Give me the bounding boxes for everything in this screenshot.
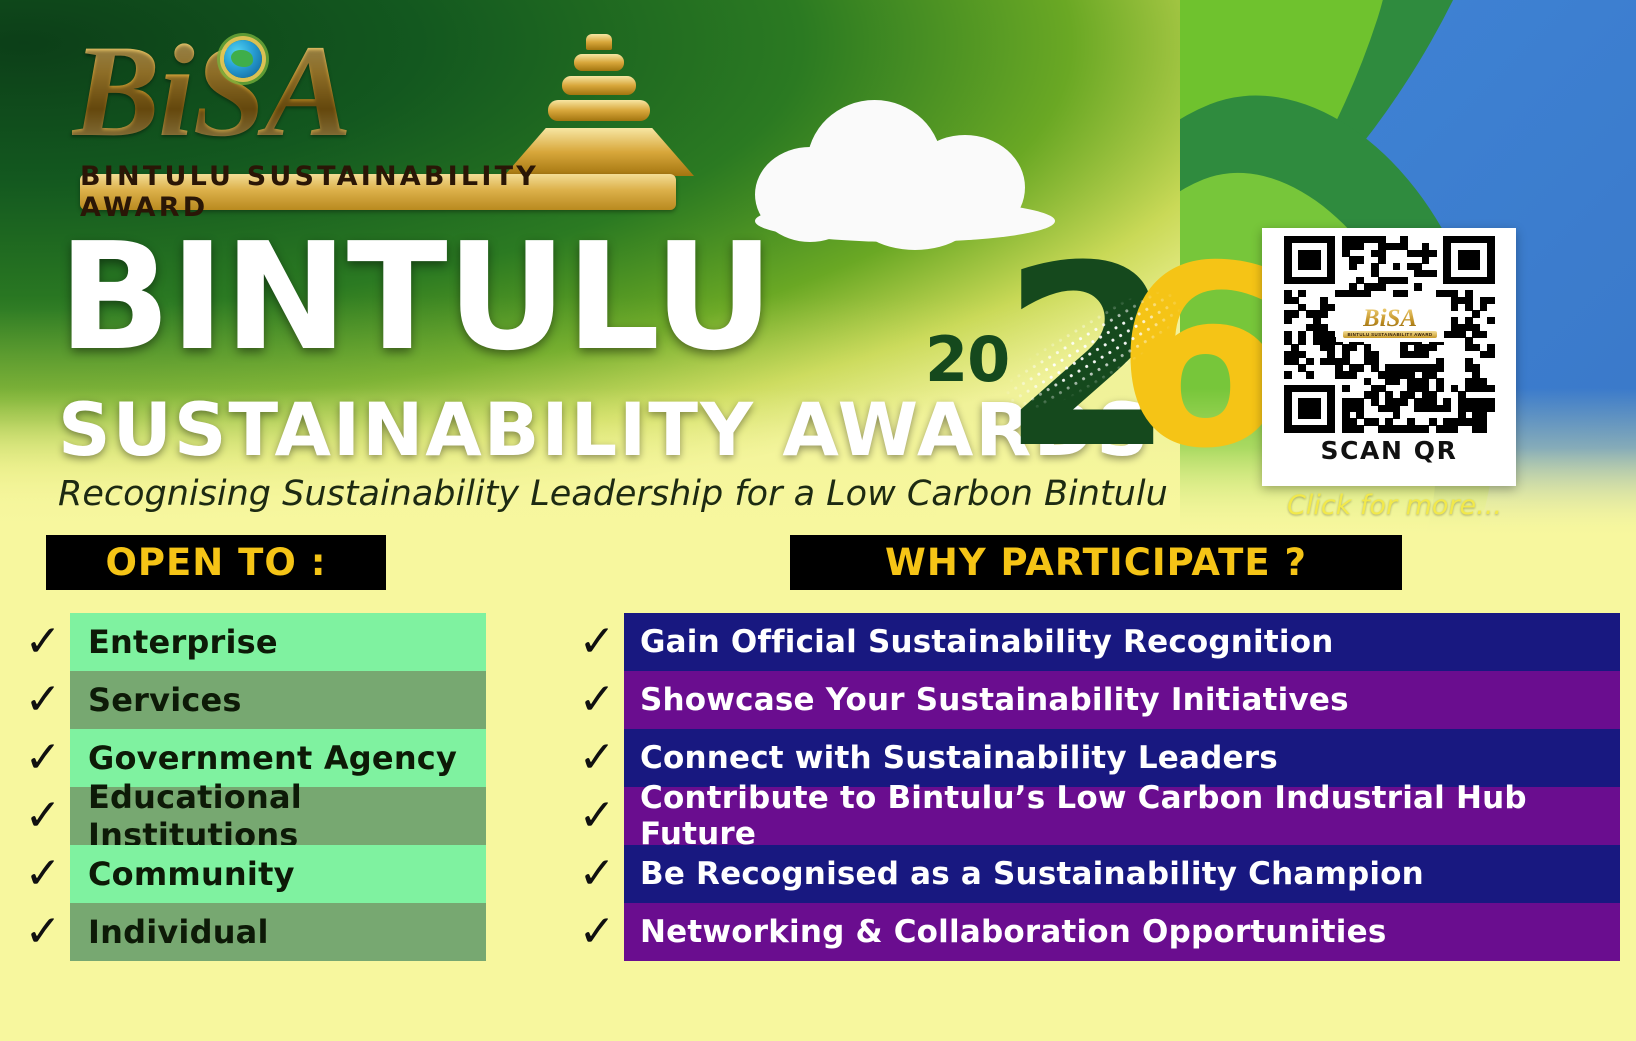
logo-mark: BiSA xyxy=(72,22,682,172)
list-item: ✓Gain Official Sustainability Recognitio… xyxy=(570,613,1620,671)
click-for-more-link[interactable]: Click for more... xyxy=(1287,490,1502,521)
list-item: ✓Connect with Sustainability Leaders xyxy=(570,729,1620,787)
why-item-label: Showcase Your Sustainability Initiatives xyxy=(640,682,1349,718)
list-item: ✓Be Recognised as a Sustainability Champ… xyxy=(570,845,1620,903)
list-item: ✓Educational Institutions xyxy=(16,787,486,845)
check-icon: ✓ xyxy=(16,903,70,961)
list-item: ✓Networking & Collaboration Opportunitie… xyxy=(570,903,1620,961)
open-to-item-pill: Community xyxy=(70,845,486,903)
check-icon: ✓ xyxy=(570,903,624,961)
list-item: ✓Showcase Your Sustainability Initiative… xyxy=(570,671,1620,729)
why-item-label: Contribute to Bintulu’s Low Carbon Indus… xyxy=(640,780,1620,852)
cloud-icon xyxy=(755,95,1055,230)
qr-embedded-logo: BiSA BINTULU SUSTAINABILITY AWARD xyxy=(1336,302,1444,342)
open-to-list: ✓Enterprise✓Services✓Government Agency✓E… xyxy=(16,613,486,961)
list-item: ✓Contribute to Bintulu’s Low Carbon Indu… xyxy=(570,787,1620,845)
why-item-pill: Networking & Collaboration Opportunities xyxy=(624,903,1620,961)
why-item-pill: Connect with Sustainability Leaders xyxy=(624,729,1620,787)
section-header-why-participate: WHY PARTICIPATE ? xyxy=(790,535,1402,590)
open-to-item-label: Enterprise xyxy=(88,623,278,661)
qr-card[interactable]: BiSA BINTULU SUSTAINABILITY AWARD SCAN Q… xyxy=(1262,228,1516,486)
open-to-item-label: Government Agency xyxy=(88,739,457,777)
why-item-pill: Gain Official Sustainability Recognition xyxy=(624,613,1620,671)
year-graphic: 2 6 20 xyxy=(915,245,1215,490)
logo-banner: BINTULU SUSTAINABILITY AWARD xyxy=(80,174,676,210)
open-to-item-pill: Individual xyxy=(70,903,486,961)
bisa-logo[interactable]: BiSA BINTULU SUSTAINABILITY AWARD xyxy=(72,22,682,217)
check-icon: ✓ xyxy=(570,613,624,671)
why-item-label: Connect with Sustainability Leaders xyxy=(640,740,1278,776)
check-icon: ✓ xyxy=(570,845,624,903)
check-icon: ✓ xyxy=(16,787,70,845)
open-to-item-pill: Enterprise xyxy=(70,613,486,671)
check-icon: ✓ xyxy=(16,729,70,787)
open-to-item-pill: Educational Institutions xyxy=(70,787,486,845)
list-item: ✓Individual xyxy=(16,903,486,961)
open-to-item-label: Community xyxy=(88,855,295,893)
poster-root: BiSA BINTULU SUSTAINABILITY AWARD BINTUL… xyxy=(0,0,1636,1041)
why-item-label: Be Recognised as a Sustainability Champi… xyxy=(640,856,1424,892)
qr-embedded-subtext: BINTULU SUSTAINABILITY AWARD xyxy=(1343,331,1436,338)
why-item-pill: Be Recognised as a Sustainability Champi… xyxy=(624,845,1620,903)
why-item-pill: Contribute to Bintulu’s Low Carbon Indus… xyxy=(624,787,1620,845)
logo-wordmark: BiSA xyxy=(72,16,350,166)
qr-embedded-wordmark: BiSA xyxy=(1363,307,1417,331)
check-icon: ✓ xyxy=(16,845,70,903)
why-participate-list: ✓Gain Official Sustainability Recognitio… xyxy=(570,613,1620,961)
page-title: BINTULU xyxy=(58,222,773,372)
open-to-item-pill: Services xyxy=(70,671,486,729)
open-to-item-label: Services xyxy=(88,681,242,719)
open-to-item-label: Individual xyxy=(88,913,269,951)
list-item: ✓Community xyxy=(16,845,486,903)
why-item-label: Gain Official Sustainability Recognition xyxy=(640,624,1334,660)
qr-code-image[interactable]: BiSA BINTULU SUSTAINABILITY AWARD xyxy=(1284,236,1494,432)
section-header-open-to-label: OPEN TO : xyxy=(105,541,326,584)
globe-icon xyxy=(224,40,262,78)
section-header-why-participate-label: WHY PARTICIPATE ? xyxy=(885,541,1307,584)
list-item: ✓Services xyxy=(16,671,486,729)
open-to-item-label: Educational Institutions xyxy=(88,778,486,854)
check-icon: ✓ xyxy=(570,729,624,787)
section-header-open-to: OPEN TO : xyxy=(46,535,386,590)
why-item-label: Networking & Collaboration Opportunities xyxy=(640,914,1386,950)
list-item: ✓Enterprise xyxy=(16,613,486,671)
scan-qr-label: SCAN QR xyxy=(1320,436,1457,465)
check-icon: ✓ xyxy=(570,787,624,845)
check-icon: ✓ xyxy=(570,671,624,729)
check-icon: ✓ xyxy=(16,671,70,729)
why-item-pill: Showcase Your Sustainability Initiatives xyxy=(624,671,1620,729)
check-icon: ✓ xyxy=(16,613,70,671)
tower-icon xyxy=(504,34,694,176)
